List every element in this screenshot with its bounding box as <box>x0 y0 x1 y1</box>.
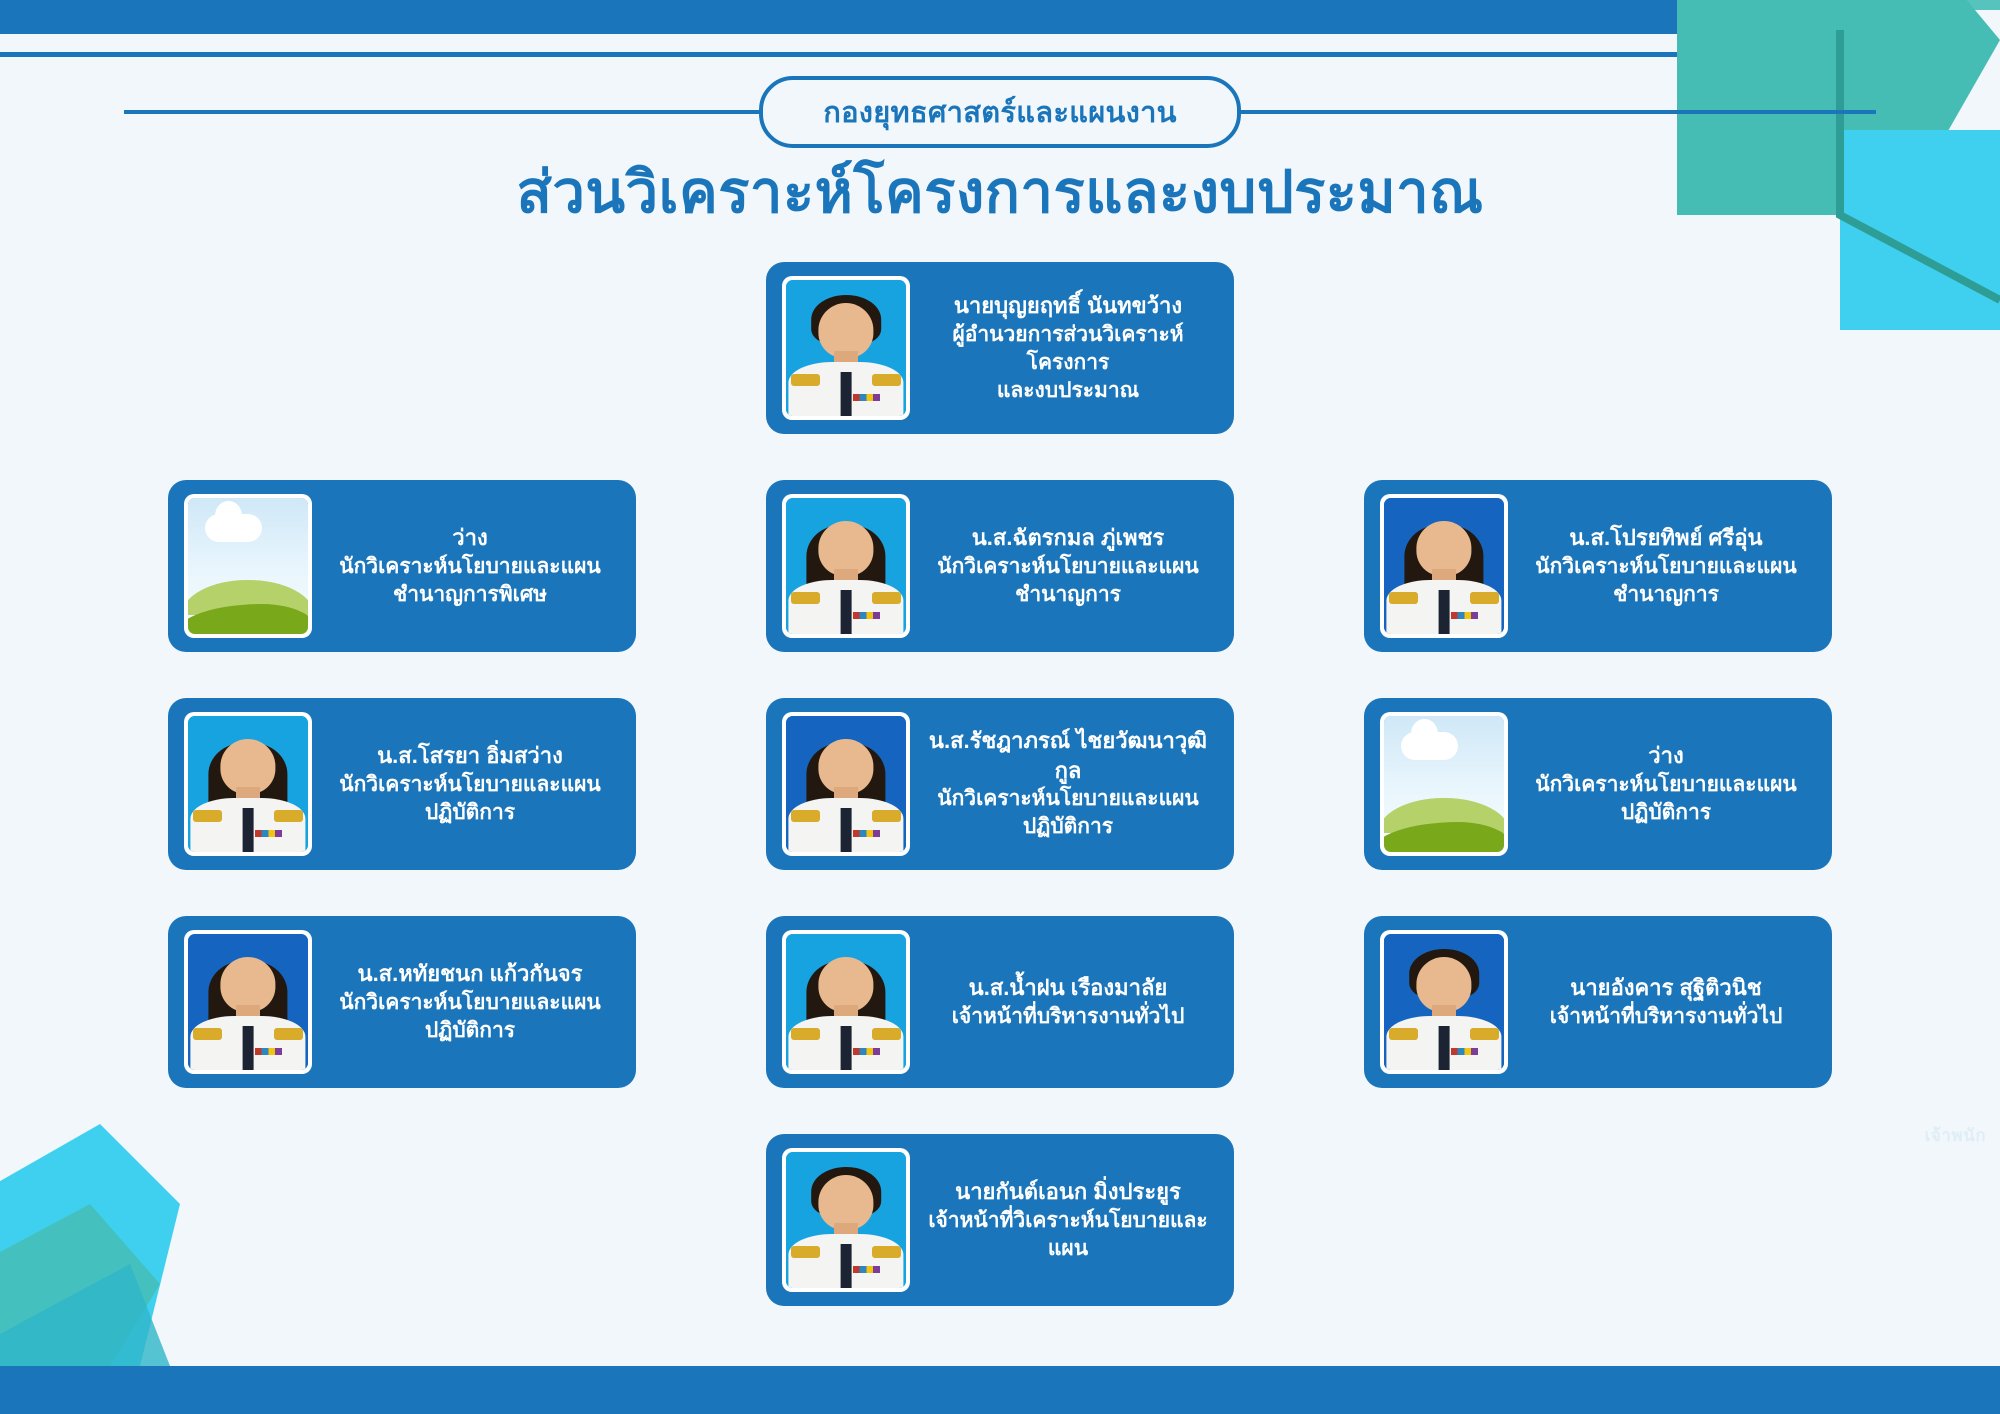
person-position-line: ชำนาญการ <box>924 581 1212 609</box>
medal-ribbon <box>1451 612 1477 619</box>
person-card[interactable]: นายกันต์เอนก มิ่งประยูรเจ้าหน้าที่วิเครา… <box>766 1134 1234 1306</box>
medal-ribbon <box>255 830 281 837</box>
org-chart: นายบุญยฤทธิ์ นันทขว้างผู้อำนวยการส่วนวิเ… <box>0 262 2000 1352</box>
org-level-2: ว่างนักวิเคราะห์นโยบายและแผนชำนาญการพิเศ… <box>0 480 2000 652</box>
face <box>818 1175 873 1229</box>
person-card[interactable]: น.ส.รัชฎาภรณ์ ไชยวัฒนาวุฒิกูลนักวิเคราะห… <box>766 698 1234 870</box>
epaulette-left <box>791 592 820 604</box>
person-card[interactable]: ว่างนักวิเคราะห์นโยบายและแผนปฏิบัติการ <box>1364 698 1832 870</box>
cloud-icon <box>1401 732 1459 759</box>
person-card[interactable]: น.ส.โปรยทิพย์ ศรีอุ่นนักวิเคราะห์นโยบายแ… <box>1364 480 1832 652</box>
org-level-5: นายกันต์เอนก มิ่งประยูรเจ้าหน้าที่วิเครา… <box>0 1134 2000 1306</box>
medal-ribbon <box>853 612 879 619</box>
photo-frame <box>786 716 906 852</box>
person-position-line: นักวิเคราะห์นโยบายและแผน <box>1522 553 1810 581</box>
necktie <box>841 1026 852 1070</box>
person-info: น.ส.น้ำฝน เรืองมาลัยเจ้าหน้าที่บริหารงาน… <box>924 973 1218 1031</box>
photo-frame <box>786 934 906 1070</box>
person-info: ว่างนักวิเคราะห์นโยบายและแผนปฏิบัติการ <box>1522 741 1816 827</box>
necktie <box>841 590 852 634</box>
page-title: ส่วนวิเคราะห์โครงการและงบประมาณ <box>0 145 2000 238</box>
epaulette-left <box>791 1246 820 1258</box>
person-card[interactable]: ว่างนักวิเคราะห์นโยบายและแผนชำนาญการพิเศ… <box>168 480 636 652</box>
person-card[interactable]: น.ส.ฉัตรกมล ภู่เพชรนักวิเคราะห์นโยบายและ… <box>766 480 1234 652</box>
epaulette-left <box>1389 592 1418 604</box>
person-position-line: เจ้าหน้าที่บริหารงานทั่วไป <box>924 1003 1212 1031</box>
cloud-icon <box>205 514 263 541</box>
top-accent-bar <box>0 0 1700 34</box>
epaulette-left <box>791 1028 820 1040</box>
photo-frame <box>786 498 906 634</box>
face <box>1416 521 1471 575</box>
person-name: น.ส.น้ำฝน เรืองมาลัย <box>924 973 1212 1002</box>
person-card[interactable]: นายอังคาร สุฐิติวนิชเจ้าหน้าที่บริหารงาน… <box>1364 916 1832 1088</box>
person-name: ว่าง <box>1522 741 1810 770</box>
person-position-line: นักวิเคราะห์นโยบายและแผน <box>326 553 614 581</box>
person-info: น.ส.หทัยชนก แก้วกันจรนักวิเคราะห์นโยบายแ… <box>326 959 620 1045</box>
medal-ribbon <box>1451 1048 1477 1055</box>
person-card[interactable]: น.ส.โสรยา อิ่มสว่างนักวิเคราะห์นโยบายและ… <box>168 698 636 870</box>
person-info: น.ส.โปรยทิพย์ ศรีอุ่นนักวิเคราะห์นโยบายแ… <box>1522 523 1816 609</box>
watermark-text: เจ้าพนัก <box>1925 1122 1986 1149</box>
person-name: นายอังคาร สุฐิติวนิช <box>1522 973 1810 1002</box>
person-photo <box>782 712 910 856</box>
person-info: น.ส.โสรยา อิ่มสว่างนักวิเคราะห์นโยบายและ… <box>326 741 620 827</box>
medal-ribbon <box>853 830 879 837</box>
org-level-1: นายบุญยฤทธิ์ นันทขว้างผู้อำนวยการส่วนวิเ… <box>0 262 2000 434</box>
person-info: นายอังคาร สุฐิติวนิชเจ้าหน้าที่บริหารงาน… <box>1522 973 1816 1031</box>
photo-frame <box>786 1152 906 1288</box>
person-card[interactable]: น.ส.น้ำฝน เรืองมาลัยเจ้าหน้าที่บริหารงาน… <box>766 916 1234 1088</box>
person-info: น.ส.รัชฎาภรณ์ ไชยวัฒนาวุฒิกูลนักวิเคราะห… <box>924 726 1218 841</box>
department-label: กองยุทธศาสตร์และแผนงาน <box>759 76 1241 148</box>
necktie <box>841 1244 852 1288</box>
person-position-line: นักวิเคราะห์นโยบายและแผน <box>326 989 614 1017</box>
person-position-line: นักวิเคราะห์นโยบายและแผน <box>326 771 614 799</box>
bottom-accent-bar <box>0 1366 2000 1414</box>
face <box>818 303 873 357</box>
person-position-line: ปฏิบัติการ <box>326 799 614 827</box>
medal-ribbon <box>853 394 879 401</box>
person-position-line: ชำนาญการ <box>1522 581 1810 609</box>
epaulette-right <box>872 810 901 822</box>
photo-frame <box>1384 716 1504 852</box>
person-photo <box>782 1148 910 1292</box>
necktie <box>841 808 852 852</box>
person-name: ว่าง <box>326 523 614 552</box>
department-header: กองยุทธศาสตร์และแผนงาน <box>0 83 2000 141</box>
person-photo <box>184 930 312 1074</box>
person-position-line: ปฏิบัติการ <box>326 1017 614 1045</box>
person-photo <box>782 276 910 420</box>
person-photo <box>184 712 312 856</box>
person-position-line: นักวิเคราะห์นโยบายและแผน <box>924 785 1212 813</box>
person-name: น.ส.หทัยชนก แก้วกันจร <box>326 959 614 988</box>
person-position-line: เจ้าหน้าที่บริหารงานทั่วไป <box>1522 1003 1810 1031</box>
person-info: ว่างนักวิเคราะห์นโยบายและแผนชำนาญการพิเศ… <box>326 523 620 609</box>
face <box>1416 957 1471 1011</box>
epaulette-right <box>274 1028 303 1040</box>
person-photo <box>782 930 910 1074</box>
epaulette-left <box>193 810 222 822</box>
photo-frame <box>1384 498 1504 634</box>
person-position-line: ปฏิบัติการ <box>1522 799 1810 827</box>
header-line-left <box>124 110 759 114</box>
person-photo <box>1380 930 1508 1074</box>
person-card[interactable]: นายบุญยฤทธิ์ นันทขว้างผู้อำนวยการส่วนวิเ… <box>766 262 1234 434</box>
necktie <box>1439 590 1450 634</box>
person-position-line: และงบประมาณ <box>924 377 1212 405</box>
face <box>220 739 275 793</box>
epaulette-left <box>193 1028 222 1040</box>
person-name: นายบุญยฤทธิ์ นันทขว้าง <box>924 291 1212 320</box>
face <box>818 739 873 793</box>
person-photo <box>1380 494 1508 638</box>
medal-ribbon <box>853 1048 879 1055</box>
face <box>220 957 275 1011</box>
face <box>818 957 873 1011</box>
epaulette-right <box>274 810 303 822</box>
face <box>818 521 873 575</box>
medal-ribbon <box>255 1048 281 1055</box>
person-position-line: นักวิเคราะห์นโยบายและแผน <box>1522 771 1810 799</box>
vacant-photo-placeholder <box>1380 712 1508 856</box>
person-photo <box>782 494 910 638</box>
person-position-line: ชำนาญการพิเศษ <box>326 581 614 609</box>
epaulette-left <box>1389 1028 1418 1040</box>
org-level-4: น.ส.หทัยชนก แก้วกันจรนักวิเคราะห์นโยบายแ… <box>0 916 2000 1088</box>
top-accent-line <box>0 52 1700 57</box>
person-name: น.ส.โสรยา อิ่มสว่าง <box>326 741 614 770</box>
necktie <box>243 1026 254 1070</box>
medal-ribbon <box>853 1266 879 1273</box>
epaulette-right <box>1470 1028 1499 1040</box>
person-position-line: ปฏิบัติการ <box>924 813 1212 841</box>
epaulette-right <box>872 1246 901 1258</box>
person-card[interactable]: น.ส.หทัยชนก แก้วกันจรนักวิเคราะห์นโยบายแ… <box>168 916 636 1088</box>
person-name: น.ส.โปรยทิพย์ ศรีอุ่น <box>1522 523 1810 552</box>
person-name: น.ส.รัชฎาภรณ์ ไชยวัฒนาวุฒิกูล <box>924 726 1212 785</box>
person-name: น.ส.ฉัตรกมล ภู่เพชร <box>924 523 1212 552</box>
epaulette-right <box>872 374 901 386</box>
vacant-photo-placeholder <box>184 494 312 638</box>
photo-frame <box>1384 934 1504 1070</box>
necktie <box>1439 1026 1450 1070</box>
necktie <box>243 808 254 852</box>
epaulette-left <box>791 374 820 386</box>
person-info: นายบุญยฤทธิ์ นันทขว้างผู้อำนวยการส่วนวิเ… <box>924 291 1218 405</box>
photo-frame <box>188 716 308 852</box>
person-position-line: ผู้อำนวยการส่วนวิเคราะห์โครงการ <box>924 321 1212 377</box>
header-line-right <box>1241 110 1876 114</box>
necktie <box>841 372 852 416</box>
person-info: น.ส.ฉัตรกมล ภู่เพชรนักวิเคราะห์นโยบายและ… <box>924 523 1218 609</box>
epaulette-left <box>791 810 820 822</box>
photo-frame <box>188 498 308 634</box>
org-level-3: น.ส.โสรยา อิ่มสว่างนักวิเคราะห์นโยบายและ… <box>0 698 2000 870</box>
person-position-line: เจ้าหน้าที่วิเคราะห์นโยบายและแผน <box>924 1207 1212 1263</box>
epaulette-right <box>872 1028 901 1040</box>
person-position-line: นักวิเคราะห์นโยบายและแผน <box>924 553 1212 581</box>
epaulette-right <box>872 592 901 604</box>
person-info: นายกันต์เอนก มิ่งประยูรเจ้าหน้าที่วิเครา… <box>924 1177 1218 1263</box>
photo-frame <box>188 934 308 1070</box>
person-name: นายกันต์เอนก มิ่งประยูร <box>924 1177 1212 1206</box>
photo-frame <box>786 280 906 416</box>
epaulette-right <box>1470 592 1499 604</box>
